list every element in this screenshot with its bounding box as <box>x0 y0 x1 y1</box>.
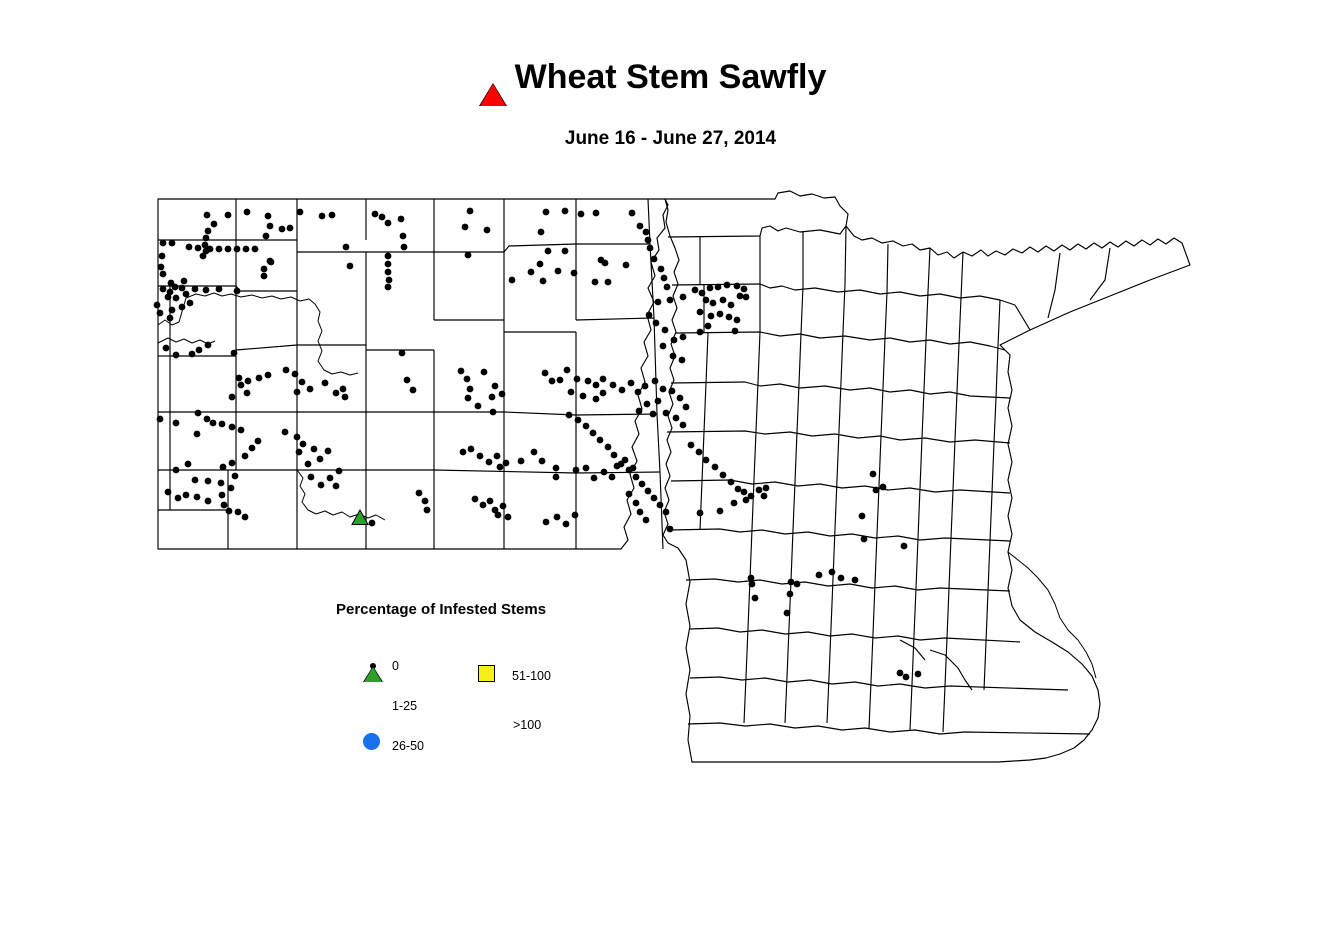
survey-point-zero <box>897 670 904 677</box>
survey-point-zero <box>385 284 392 291</box>
blue-circle-icon <box>363 733 380 750</box>
survey-point-zero <box>467 386 474 393</box>
survey-point-zero <box>210 420 217 427</box>
survey-point-zero <box>555 268 562 275</box>
survey-point-zero <box>336 468 343 475</box>
survey-point-zero <box>261 273 268 280</box>
survey-point-zero <box>573 467 580 474</box>
survey-point-zero <box>743 294 750 301</box>
survey-point-zero <box>265 372 272 379</box>
survey-point-zero <box>183 492 190 499</box>
survey-point-zero <box>671 337 678 344</box>
survey-point-zero <box>464 376 471 383</box>
survey-point-zero <box>575 417 582 424</box>
survey-point-zero <box>756 487 763 494</box>
survey-point-zero <box>663 509 670 516</box>
survey-point-zero <box>692 287 699 294</box>
survey-point-zero <box>628 380 635 387</box>
survey-point-zero <box>386 277 393 284</box>
survey-point-zero <box>653 320 660 327</box>
survey-point-zero <box>318 482 325 489</box>
survey-point-zero <box>728 302 735 309</box>
survey-point-zero <box>487 498 494 505</box>
survey-point-zero <box>399 350 406 357</box>
survey-point-zero <box>486 459 493 466</box>
survey-point-zero <box>680 294 687 301</box>
survey-point-zero <box>870 471 877 478</box>
survey-point-zero <box>160 240 167 247</box>
survey-point-zero <box>626 491 633 498</box>
survey-point-zero <box>585 378 592 385</box>
survey-point-zero <box>852 577 859 584</box>
survey-point-zero <box>664 284 671 291</box>
legend-label-4: >100 <box>513 718 541 732</box>
survey-point-zero <box>238 382 245 389</box>
survey-point-zero <box>543 209 550 216</box>
survey-point-zero <box>398 216 405 223</box>
survey-point-zero <box>282 429 289 436</box>
survey-point-zero <box>228 485 235 492</box>
survey-point-zero <box>545 248 552 255</box>
survey-point-zero <box>484 227 491 234</box>
survey-point-zero <box>252 246 259 253</box>
survey-point-zero <box>465 252 472 259</box>
survey-point-zero <box>583 465 590 472</box>
survey-point-zero <box>480 502 487 509</box>
survey-point-zero <box>385 253 392 260</box>
survey-point-zero <box>216 286 223 293</box>
survey-point-zero <box>192 477 199 484</box>
survey-point-zero <box>549 378 556 385</box>
survey-point-zero <box>300 441 307 448</box>
survey-point-zero <box>385 261 392 268</box>
survey-point-zero <box>660 386 667 393</box>
survey-point-zero <box>401 244 408 251</box>
survey-point-zero <box>572 512 579 519</box>
survey-point-zero <box>173 467 180 474</box>
survey-point-zero <box>562 208 569 215</box>
legend-label-1: 1-25 <box>392 699 417 713</box>
survey-point-zero <box>169 307 176 314</box>
survey-point-zero <box>680 334 687 341</box>
survey-point-zero <box>703 297 710 304</box>
survey-point-zero <box>600 390 607 397</box>
survey-point-zero <box>422 498 429 505</box>
survey-point-zero <box>219 492 226 499</box>
legend: Percentage of Infested Stems 0 1-25 26-5… <box>336 601 596 761</box>
survey-point-zero <box>192 286 199 293</box>
survey-point-zero <box>583 423 590 430</box>
survey-point-zero <box>667 526 674 533</box>
survey-point-zero <box>717 508 724 515</box>
survey-point-zero <box>216 246 223 253</box>
survey-point-zero <box>655 299 662 306</box>
survey-point-zero <box>633 474 640 481</box>
survey-point-zero <box>327 475 334 482</box>
survey-point-zero <box>203 287 210 294</box>
survey-point-zero <box>578 211 585 218</box>
survey-point-zero <box>279 226 286 233</box>
survey-point-zero <box>481 369 488 376</box>
survey-point-zero <box>308 474 315 481</box>
survey-point-zero <box>715 284 722 291</box>
survey-point-zero <box>660 343 667 350</box>
survey-point-zero <box>763 485 770 492</box>
survey-point-zero <box>574 376 581 383</box>
survey-point-zero <box>244 390 251 397</box>
survey-point-zero <box>741 286 748 293</box>
survey-point-zero <box>154 302 161 309</box>
survey-point-zero <box>670 353 677 360</box>
survey-point-zero <box>602 260 609 267</box>
survey-point-zero <box>158 264 165 271</box>
survey-point-zero <box>680 422 687 429</box>
survey-point-zero <box>186 244 193 251</box>
survey-point-zero <box>637 223 644 230</box>
survey-point-zero <box>540 278 547 285</box>
survey-point-zero <box>662 327 669 334</box>
survey-point-zero <box>593 210 600 217</box>
survey-point-zero <box>643 229 650 236</box>
survey-point-zero <box>539 458 546 465</box>
nd-mn-county-map <box>0 0 1341 926</box>
survey-point-zero <box>518 458 525 465</box>
survey-point-zero <box>741 489 748 496</box>
survey-point-zero <box>505 514 512 521</box>
survey-point-zero <box>458 368 465 375</box>
survey-point-zero <box>187 300 194 307</box>
survey-point-zero <box>661 275 668 282</box>
survey-point-zero <box>696 449 703 456</box>
survey-point-zero <box>181 278 188 285</box>
survey-point-zero <box>651 495 658 502</box>
survey-point-zero <box>169 240 176 247</box>
survey-point-zero <box>688 442 695 449</box>
survey-point-zero <box>705 323 712 330</box>
survey-point-zero <box>734 283 741 290</box>
survey-point-zero <box>225 246 232 253</box>
survey-point-zero <box>497 464 504 471</box>
survey-point-zero <box>735 486 742 493</box>
survey-point-zero <box>333 390 340 397</box>
survey-point-zero <box>494 453 501 460</box>
survey-point-zero <box>643 517 650 524</box>
survey-point-zero <box>468 446 475 453</box>
survey-point-zero <box>157 416 164 423</box>
survey-point-zero <box>172 284 179 291</box>
survey-point-zero <box>697 329 704 336</box>
survey-point-zero <box>296 449 303 456</box>
survey-point-zero <box>644 401 651 408</box>
survey-point-zero <box>385 269 392 276</box>
survey-point-zero <box>600 376 607 383</box>
survey-point-zero <box>477 453 484 460</box>
survey-point-zero <box>175 495 182 502</box>
survey-point-zero <box>650 411 657 418</box>
survey-point-zero <box>173 420 180 427</box>
survey-point-zero <box>794 581 801 588</box>
survey-point-zero <box>630 465 637 472</box>
survey-point-zero <box>605 444 612 451</box>
survey-point-zero <box>788 579 795 586</box>
survey-point-zero <box>590 430 597 437</box>
survey-point-zero <box>467 208 474 215</box>
survey-point-zero <box>194 431 201 438</box>
survey-point-zero <box>307 386 314 393</box>
survey-point-zero <box>299 379 306 386</box>
survey-point-zero <box>728 479 735 486</box>
survey-point-zero <box>218 480 225 487</box>
survey-point-zero <box>658 266 665 273</box>
survey-point-zero <box>639 481 646 488</box>
survey-point-zero <box>829 569 836 576</box>
survey-point-zero <box>622 457 629 464</box>
survey-point-zero <box>901 543 908 550</box>
survey-point-zero <box>219 421 226 428</box>
survey-point-zero <box>610 382 617 389</box>
survey-point-zero <box>543 519 550 526</box>
survey-point-zero <box>195 245 202 252</box>
survey-point-zero <box>619 387 626 394</box>
survey-point-zero <box>697 510 704 517</box>
map-container <box>0 0 1341 926</box>
survey-point-zero <box>205 342 212 349</box>
survey-point-zero <box>460 449 467 456</box>
survey-point-zero <box>743 497 750 504</box>
survey-point-zero <box>703 457 710 464</box>
survey-point-zero <box>231 350 238 357</box>
survey-point-zero <box>205 228 212 235</box>
survey-point-zero <box>204 212 211 219</box>
survey-point-zero <box>267 223 274 230</box>
survey-point-zero <box>416 490 423 497</box>
survey-point-zero <box>226 508 233 515</box>
survey-point-zero <box>629 210 636 217</box>
survey-point-zero <box>568 389 575 396</box>
survey-point-zero <box>207 246 214 253</box>
survey-point-zero <box>838 575 845 582</box>
survey-point-zero <box>424 507 431 514</box>
survey-point-zero <box>160 286 167 293</box>
survey-point-zero <box>294 434 301 441</box>
survey-point-zero <box>183 291 190 298</box>
survey-point-zero <box>205 498 212 505</box>
survey-point-zero <box>915 671 922 678</box>
survey-point-zero <box>238 427 245 434</box>
survey-point-zero <box>229 394 236 401</box>
survey-point-zero <box>173 352 180 359</box>
survey-point-zero <box>245 378 252 385</box>
survey-point-zero <box>816 572 823 579</box>
survey-point-zero <box>732 328 739 335</box>
survey-point-zero <box>553 465 560 472</box>
survey-point-zero <box>635 389 642 396</box>
survey-point-zero <box>580 393 587 400</box>
survey-point-zero <box>633 500 640 507</box>
survey-point-zero <box>903 674 910 681</box>
survey-point-zero <box>726 314 733 321</box>
survey-point-zero <box>462 224 469 231</box>
survey-point-zero <box>232 473 239 480</box>
survey-point-zero <box>173 295 180 302</box>
survey-point-zero <box>737 293 744 300</box>
survey-point-zero <box>509 277 516 284</box>
survey-point-zero <box>179 304 186 311</box>
survey-point-zero <box>297 209 304 216</box>
survey-point-zero <box>157 310 164 317</box>
survey-point-zero <box>372 211 379 218</box>
survey-point-zero <box>537 261 544 268</box>
survey-point-zero <box>699 290 706 297</box>
survey-point-zero <box>229 460 236 467</box>
survey-point-zero <box>720 297 727 304</box>
survey-point-zero <box>475 403 482 410</box>
survey-point-zero <box>652 378 659 385</box>
survey-point-zero <box>203 235 210 242</box>
survey-point-zero <box>707 285 714 292</box>
survey-point-zero <box>557 377 564 384</box>
survey-point-zero <box>609 474 616 481</box>
survey-point-zero <box>369 520 376 527</box>
survey-point-zero <box>283 367 290 374</box>
survey-point-zero <box>642 383 649 390</box>
survey-point-zero <box>167 315 174 322</box>
survey-point-zero <box>637 509 644 516</box>
survey-point-zero <box>465 395 472 402</box>
survey-point-zero <box>268 259 275 266</box>
survey-point-zero <box>724 282 731 289</box>
survey-point-zero <box>317 456 324 463</box>
survey-point-zero <box>499 391 506 398</box>
survey-point-zero <box>673 415 680 422</box>
survey-point-zero <box>234 246 241 253</box>
survey-point-zero <box>657 502 664 509</box>
yellow-square-icon <box>478 665 495 682</box>
survey-point-zero <box>528 269 535 276</box>
survey-point-zero <box>636 408 643 415</box>
survey-point-zero <box>697 309 704 316</box>
survey-point-zero <box>256 375 263 382</box>
survey-point-zero <box>531 449 538 456</box>
green-triangle-icon <box>364 667 382 682</box>
survey-point-zero <box>647 245 654 252</box>
survey-point-zero <box>342 394 349 401</box>
survey-point-zero <box>720 472 727 479</box>
survey-point-zero <box>287 225 294 232</box>
survey-point-zero <box>400 233 407 240</box>
survey-point-zero <box>655 398 662 405</box>
survey-point-zero <box>160 271 167 278</box>
survey-point-zero <box>861 536 868 543</box>
survey-point-zero <box>749 581 756 588</box>
survey-point-zero <box>717 311 724 318</box>
survey-point-zero <box>472 496 479 503</box>
survey-point-zero <box>645 488 652 495</box>
survey-point-zero <box>538 229 545 236</box>
survey-point-zero <box>712 464 719 471</box>
survey-point-zero <box>601 469 608 476</box>
survey-point-zero <box>592 279 599 286</box>
survey-point-zero <box>669 388 676 395</box>
survey-point-zero <box>787 591 794 598</box>
survey-point-zero <box>311 446 318 453</box>
survey-point-zero <box>194 494 201 501</box>
survey-point-zero <box>205 478 212 485</box>
legend-label-0: 0 <box>392 659 399 673</box>
survey-point-zero <box>159 253 166 260</box>
survey-point-zero <box>562 248 569 255</box>
survey-point-zero <box>319 213 326 220</box>
survey-point-zero <box>784 610 791 617</box>
survey-point-zero <box>189 351 196 358</box>
survey-point-zero <box>165 294 172 301</box>
survey-point-zero <box>404 377 411 384</box>
survey-point-zero <box>614 463 621 470</box>
survey-point-zero <box>255 438 262 445</box>
survey-point-zero <box>542 370 549 377</box>
survey-point-zero <box>597 437 604 444</box>
survey-point-zero <box>243 246 250 253</box>
survey-point-zero <box>605 279 612 286</box>
survey-point-zero <box>294 389 301 396</box>
survey-point-zero <box>495 512 502 519</box>
survey-point-zero <box>244 209 251 216</box>
survey-point-zero <box>752 595 759 602</box>
survey-point-zero <box>410 387 417 394</box>
survey-point-zero <box>679 357 686 364</box>
survey-point-zero <box>563 521 570 528</box>
survey-point-zero <box>385 220 392 227</box>
survey-point-zero <box>265 213 272 220</box>
survey-point-zero <box>196 347 203 354</box>
survey-point-zero <box>880 484 887 491</box>
survey-point-zero <box>503 460 510 467</box>
survey-point-zero <box>859 513 866 520</box>
survey-point-zero <box>553 474 560 481</box>
survey-point-zero <box>566 412 573 419</box>
survey-point-zero <box>663 410 670 417</box>
survey-point-zero <box>242 453 249 460</box>
survey-point-zero <box>249 445 256 452</box>
survey-point-zero <box>163 345 170 352</box>
survey-point-zero <box>263 233 270 240</box>
survey-point-zero <box>185 461 192 468</box>
survey-point-zero <box>261 266 268 273</box>
survey-point-zero <box>708 313 715 320</box>
survey-point-zero <box>500 503 507 510</box>
survey-point-zero <box>229 424 236 431</box>
survey-point-zero <box>195 410 202 417</box>
survey-point-zero <box>220 464 227 471</box>
survey-point-zero <box>873 487 880 494</box>
survey-point-zero <box>322 380 329 387</box>
survey-point-zero <box>611 452 618 459</box>
survey-point-zero <box>236 375 243 382</box>
survey-point-zero <box>677 395 684 402</box>
survey-point-zero <box>731 500 738 507</box>
survey-point-zero <box>225 212 232 219</box>
survey-point-zero <box>329 212 336 219</box>
survey-point-zero <box>343 244 350 251</box>
survey-point-zero <box>292 371 299 378</box>
survey-point-zero <box>234 288 241 295</box>
survey-point-zero <box>667 297 674 304</box>
survey-point-zero <box>490 409 497 416</box>
survey-point-zero <box>571 270 578 277</box>
legend-label-2: 26-50 <box>392 739 424 753</box>
survey-point-zero <box>305 461 312 468</box>
survey-point-zero <box>489 394 496 401</box>
